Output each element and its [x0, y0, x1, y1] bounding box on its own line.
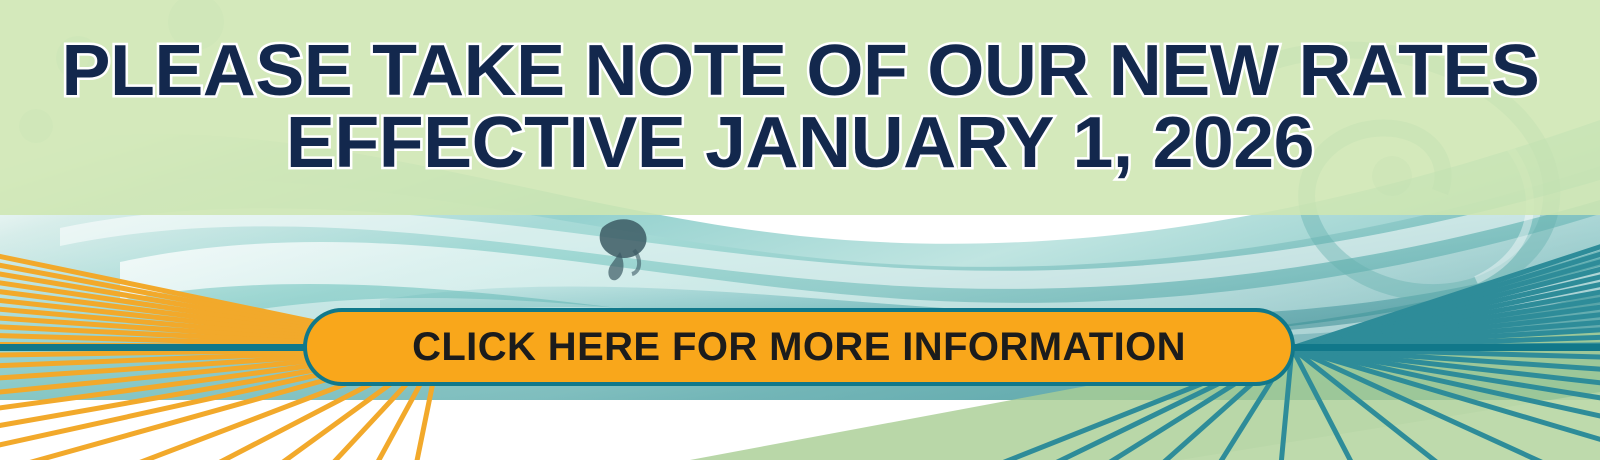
- cta-container: CLICK HERE FOR MORE INFORMATION: [303, 308, 1295, 386]
- click-here-for-more-information-button[interactable]: CLICK HERE FOR MORE INFORMATION: [303, 308, 1295, 386]
- green-headline-band: [0, 0, 1600, 215]
- rate-change-banner: PLEASE TAKE NOTE OF OUR NEW RATES EFFECT…: [0, 0, 1600, 460]
